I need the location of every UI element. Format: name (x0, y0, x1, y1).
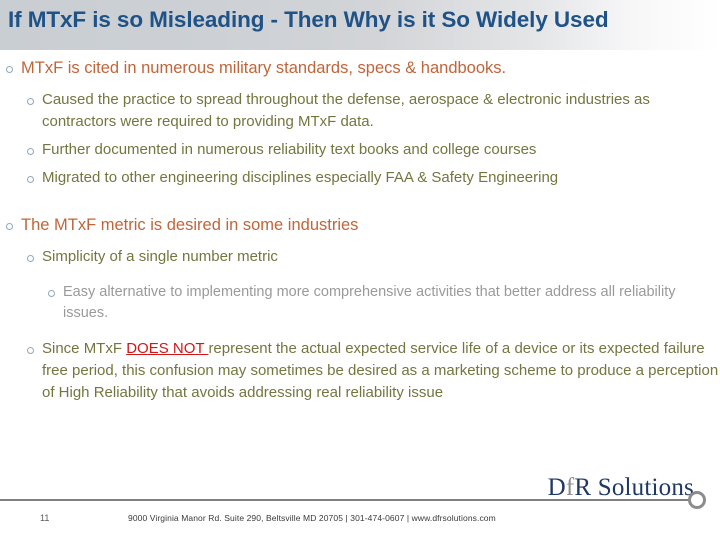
logo-word-r-solutions: R Solutions (574, 474, 694, 501)
emphasis-does-not: DOES NOT (126, 340, 208, 357)
bullet-circle-icon (27, 148, 34, 155)
page-number: 11 (40, 513, 49, 523)
bullet-circle-icon (27, 98, 34, 105)
logo-ring-icon (688, 491, 706, 509)
bullet-circle-icon (6, 223, 13, 230)
bullet-text: Since MTxF DOES NOT represent the actual… (42, 338, 720, 404)
bullet-text: The MTxF metric is desired in some indus… (21, 213, 720, 237)
bullet-item-level2: Further documented in numerous reliabili… (27, 139, 720, 161)
bullet-text-before: Since MTxF (42, 340, 126, 357)
page-title: If MTxF is so Misleading - Then Why is i… (8, 6, 712, 34)
bullet-item-level2: Migrated to other engineering discipline… (27, 167, 720, 189)
bullet-circle-icon (6, 66, 13, 73)
bullet-text: Caused the practice to spread throughout… (42, 89, 720, 133)
bullet-text: Further documented in numerous reliabili… (42, 139, 720, 161)
bullet-item-level2: Caused the practice to spread throughout… (27, 89, 720, 133)
bullet-text: Easy alternative to implementing more co… (63, 282, 720, 324)
bullet-circle-icon (27, 347, 34, 354)
footer-address-text: 9000 Virginia Manor Rd. Suite 290, Belts… (128, 513, 496, 523)
bullet-item-level1: MTxF is cited in numerous military stand… (6, 56, 720, 80)
bullet-spacer (0, 274, 720, 282)
bullet-item-level2-emphasis: Since MTxF DOES NOT represent the actual… (27, 338, 720, 404)
footer-divider-rule (0, 499, 694, 501)
bullet-item-level2: Simplicity of a single number metric (27, 246, 720, 268)
bullet-item-level3: Easy alternative to implementing more co… (48, 282, 720, 324)
bullet-text: Simplicity of a single number metric (42, 246, 720, 268)
slide-title-band: If MTxF is so Misleading - Then Why is i… (0, 0, 720, 50)
bullet-item-level1: The MTxF metric is desired in some indus… (6, 213, 720, 237)
logo-letter-d: D (548, 474, 566, 501)
bullet-text: MTxF is cited in numerous military stand… (21, 56, 720, 80)
bullet-circle-icon (27, 255, 34, 262)
bullet-group-spacer (0, 195, 720, 213)
bullet-text: Migrated to other engineering discipline… (42, 167, 720, 189)
bullet-spacer (0, 330, 720, 338)
bullet-circle-icon (27, 176, 34, 183)
slide-body: MTxF is cited in numerous military stand… (0, 56, 720, 456)
bullet-circle-icon (48, 290, 55, 297)
